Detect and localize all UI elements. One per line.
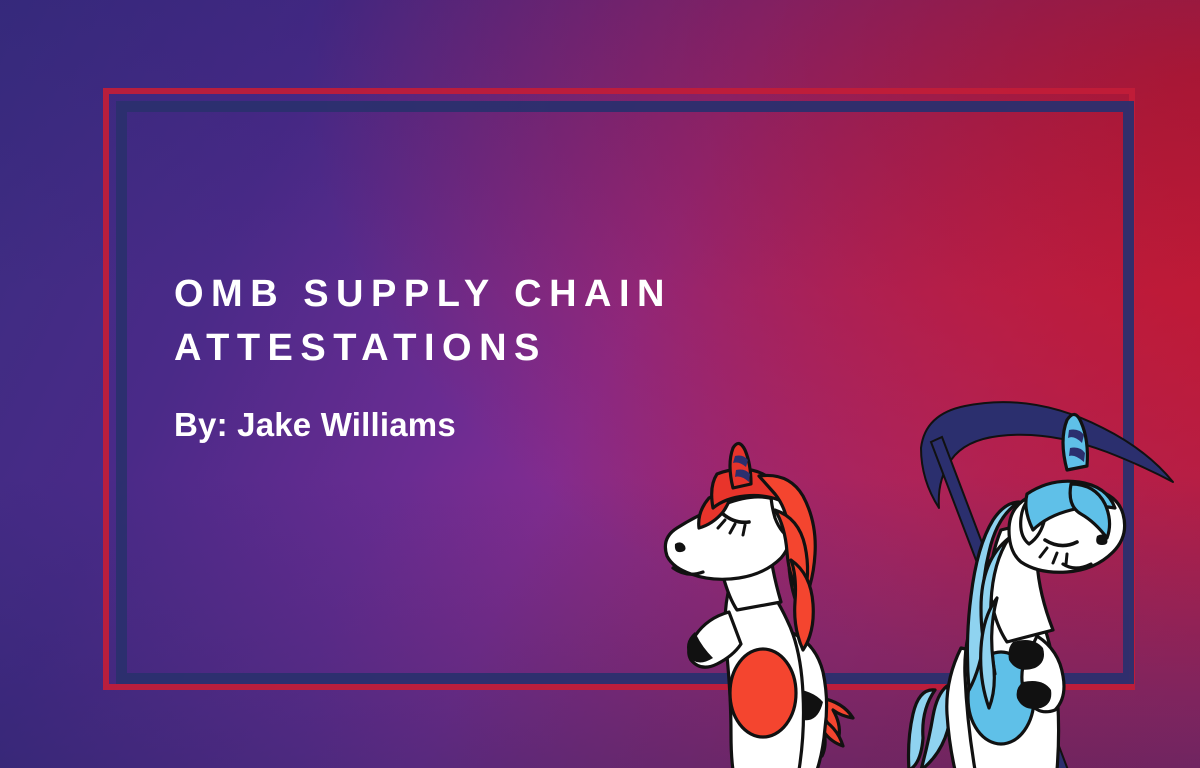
- author-byline: By: Jake Williams: [174, 406, 794, 444]
- red-unicorn-illustration: [655, 440, 905, 768]
- title-text-block: OMB SUPPLY CHAIN ATTESTATIONS By: Jake W…: [174, 268, 794, 444]
- blue-unicorn-illustration: [905, 398, 1180, 768]
- red-unicorn-horn: [730, 443, 751, 488]
- blue-unicorn-hoof-lower: [1017, 681, 1052, 709]
- blue-unicorn-hoof-upper: [1009, 640, 1045, 670]
- blue-unicorn-tail: [909, 686, 951, 768]
- red-unicorn-belly-patch: [730, 649, 796, 737]
- page-title: OMB SUPPLY CHAIN ATTESTATIONS: [174, 268, 794, 376]
- presentation-slide: OMB SUPPLY CHAIN ATTESTATIONS By: Jake W…: [0, 0, 1200, 768]
